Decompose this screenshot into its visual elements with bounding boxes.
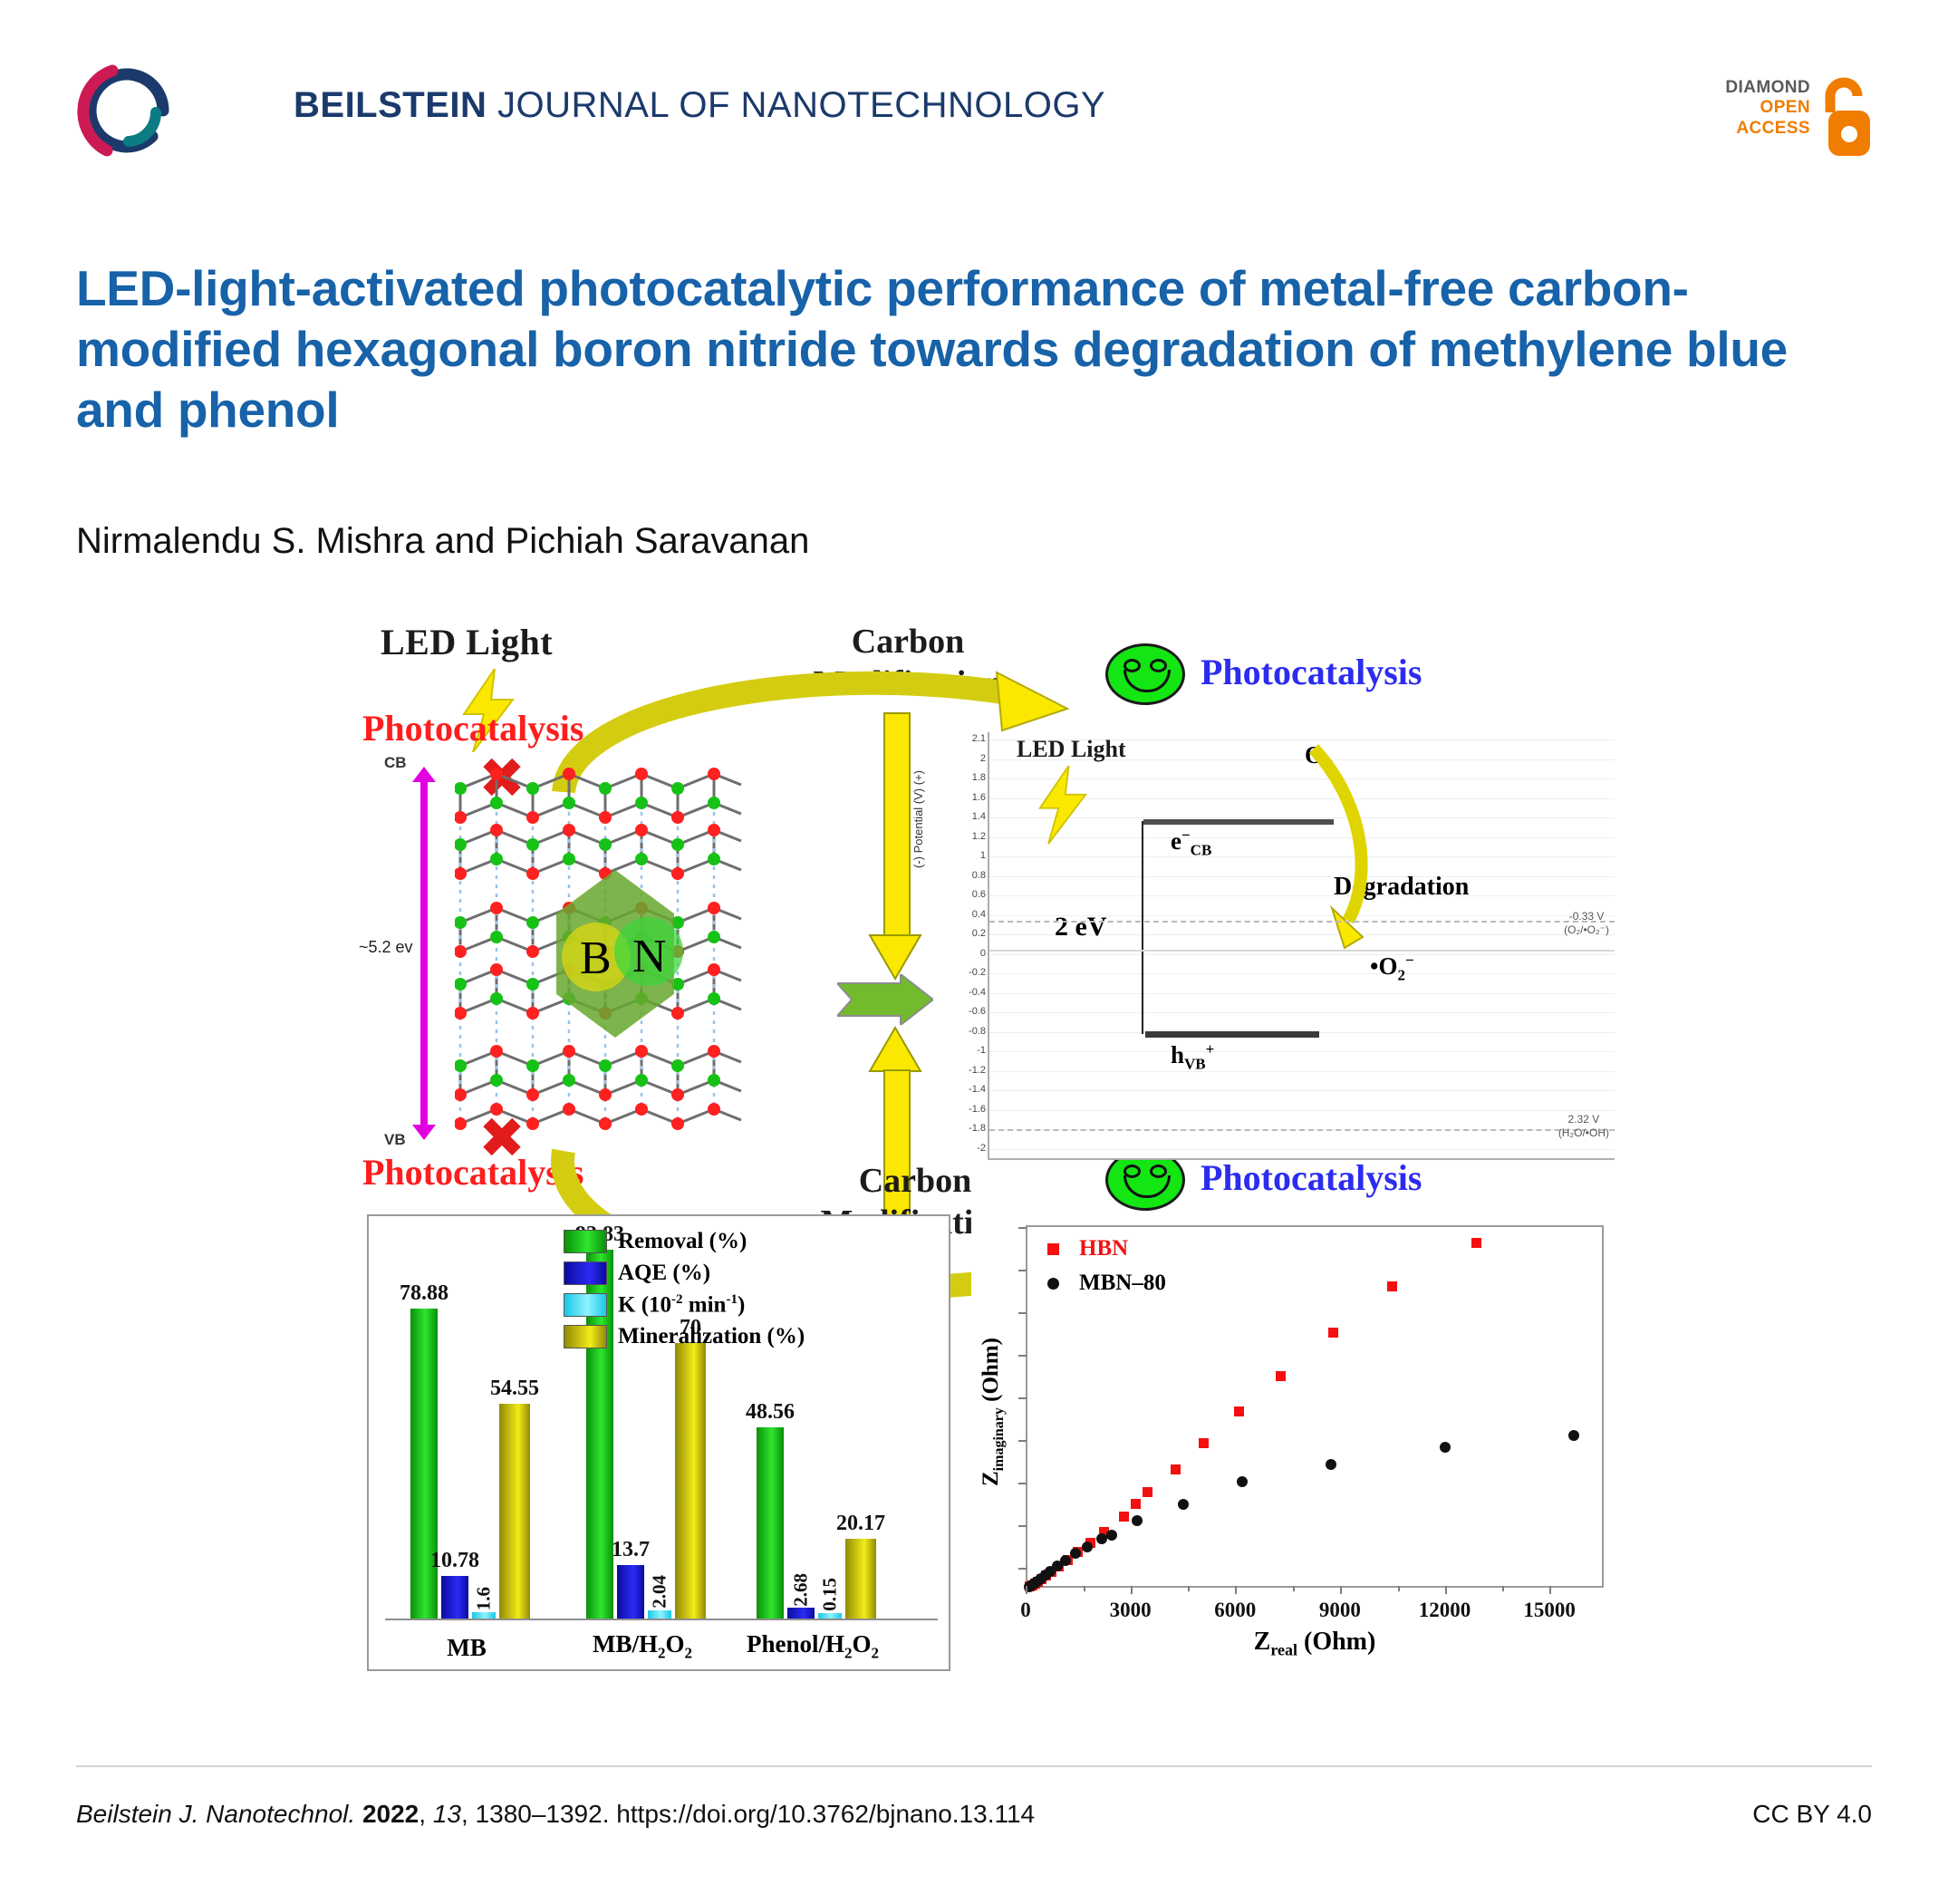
yellow-arrow-down-shaft	[883, 712, 911, 942]
nyquist-ytick-mark	[1018, 1397, 1027, 1399]
nyquist-yaxis-label: Zimaginary (Ohm)	[979, 1338, 1008, 1486]
bar-value-label: 54.55	[490, 1377, 539, 1401]
bandgap-bar	[1142, 821, 1143, 1034]
valence-band-label: VB	[384, 1131, 406, 1149]
nyquist-xtick-mark	[1131, 1586, 1133, 1594]
footer-volume: 13	[433, 1800, 461, 1828]
bar-MB-1: 10.78	[441, 1576, 468, 1619]
band-ytick: 0.8	[950, 870, 986, 881]
smiley-face-icon-top	[1105, 643, 1185, 705]
band-ytick: -1.6	[950, 1104, 986, 1115]
nyquist-point-MBN80	[1568, 1430, 1579, 1441]
legend-swatch	[564, 1325, 607, 1348]
nyquist-xtick-minor	[1084, 1586, 1085, 1591]
bar-PhenolH2O2-3: 20.17	[845, 1539, 876, 1619]
nyquist-point-HBN	[1387, 1281, 1397, 1291]
nyquist-point-MBN80	[1237, 1476, 1248, 1487]
band-gridline	[989, 1090, 1615, 1091]
bar-chart-legend: Removal (%)AQE (%)K (10-2 min-1)Minerali…	[564, 1229, 805, 1356]
nyquist-xtick-label: 15000	[1523, 1599, 1576, 1622]
band-ytick: -0.8	[950, 1026, 986, 1037]
nyquist-xtick-label: 3000	[1110, 1599, 1152, 1622]
bar-MBH2O2-1: 13.7	[617, 1565, 644, 1619]
legend-label: AQE (%)	[618, 1261, 710, 1286]
nyquist-point-HBN	[1234, 1406, 1244, 1416]
footer-year: 2022	[362, 1800, 419, 1828]
nyquist-point-HBN	[1119, 1512, 1129, 1522]
footer-license: CC BY 4.0	[1752, 1800, 1872, 1829]
nyquist-legend: HBNMBN–80	[1042, 1236, 1166, 1305]
nyquist-xtick-mark	[1445, 1586, 1447, 1594]
green-right-arrow-icon	[837, 974, 933, 1025]
conduction-band-label: CB	[384, 754, 407, 772]
nyquist-point-MBN80	[1070, 1548, 1081, 1559]
bar-value-label: 20.17	[836, 1512, 885, 1536]
band-ytick: 0.2	[950, 928, 986, 939]
band-ytick: -1	[950, 1045, 986, 1056]
redox-label-superoxide: -0.33 V (O₂/•O₂⁻)	[1564, 910, 1609, 937]
graphical-abstract-figure: LED Light CarbonModification Photocataly…	[362, 616, 1631, 1722]
led-light-label: LED Light	[381, 621, 553, 663]
nyquist-xaxis-label: Zreal (Ohm)	[1026, 1628, 1604, 1660]
nyquist-xtick-minor	[1293, 1586, 1295, 1591]
bar-value-label: 78.88	[400, 1281, 448, 1306]
band-ytick: 1	[950, 850, 986, 861]
journal-title: BEILSTEIN JOURNAL OF NANOTECHNOLOGY	[294, 85, 1105, 126]
band-ytick: 2.1	[950, 733, 986, 744]
nyquist-xtick-label: 0	[1020, 1599, 1031, 1622]
nyquist-point-HBN	[1199, 1438, 1209, 1448]
bar-value-label: 0.15	[819, 1578, 842, 1611]
page-title: LED-light-activated photocatalytic perfo…	[76, 258, 1825, 440]
nyquist-ytick-mark	[1018, 1227, 1027, 1229]
nyquist-xtick-minor	[1188, 1586, 1190, 1591]
nyquist-xtick-minor	[1398, 1586, 1400, 1591]
band-energy-diagram: (-) Potential (V) (+) 2.121.81.61.41.210…	[988, 732, 1615, 1160]
band-gridline	[989, 973, 1615, 974]
redox-1-value: -0.33 V	[1569, 910, 1605, 923]
hole-vb-label: hVB+	[1171, 1040, 1214, 1073]
bar-MB-2: 1.6	[472, 1612, 496, 1619]
valence-band-line	[1145, 1031, 1319, 1038]
nyquist-point-HBN	[1131, 1499, 1141, 1509]
legend-label: MBN–80	[1079, 1271, 1166, 1296]
hbn-lattice-panel: CB VB ~5.2 ev	[390, 761, 743, 1151]
band-ytick: -1.8	[950, 1123, 986, 1134]
bar-value-label: 48.56	[746, 1400, 795, 1425]
nyquist-xtick-label: 12000	[1419, 1599, 1471, 1622]
legend-swatch	[564, 1293, 607, 1317]
nyquist-point-MBN80	[1060, 1555, 1071, 1566]
nyquist-legend-item: MBN–80	[1042, 1271, 1166, 1296]
bar-legend-item: K (10-2 min-1)	[564, 1292, 805, 1318]
bar-value-label: 13.7	[612, 1538, 650, 1562]
legend-label: K (10-2 min-1)	[618, 1292, 745, 1318]
band-ytick: 0.4	[950, 909, 986, 920]
bar-PhenolH2O2-1: 2.68	[787, 1608, 815, 1619]
nyquist-point-HBN	[1143, 1487, 1152, 1497]
band-led-light-label: LED Light	[1017, 736, 1126, 763]
bar-MB-3: 54.55	[499, 1404, 530, 1619]
bar-value-label: 10.78	[430, 1549, 479, 1573]
nyquist-point-MBN80	[1106, 1530, 1117, 1541]
open-access-text: DIAMOND OPEN ACCESS	[1725, 78, 1810, 139]
band-gridline	[989, 1051, 1615, 1052]
footer-journal: Beilstein J. Nanotechnol.	[76, 1800, 355, 1828]
journal-title-light: JOURNAL OF NANOTECHNOLOGY	[487, 85, 1105, 125]
open-access-badge: DIAMOND OPEN ACCESS	[1682, 71, 1872, 166]
bar-legend-item: Removal (%)	[564, 1229, 805, 1254]
nyquist-xtick-label: 9000	[1319, 1599, 1361, 1622]
beilstein-spiral-logo-icon	[76, 60, 178, 161]
legend-label: Removal (%)	[618, 1229, 747, 1254]
band-yaxis-title: (-) Potential (V) (+)	[911, 770, 925, 868]
band-ytick: -0.6	[950, 1006, 986, 1017]
redox-2-couple: (H₂O/•OH)	[1558, 1126, 1609, 1139]
redox-1-couple: (O₂/•O₂⁻)	[1564, 923, 1609, 936]
oa-line-access: ACCESS	[1725, 119, 1810, 139]
masthead: BEILSTEIN JOURNAL OF NANOTECHNOLOGY DIAM…	[76, 60, 1872, 169]
legend-label: Mineralization (%)	[618, 1324, 805, 1349]
nyquist-xtick-label: 6000	[1214, 1599, 1256, 1622]
band-ytick: -0.2	[950, 967, 986, 978]
legend-swatch	[564, 1261, 607, 1285]
bar-legend-item: Mineralization (%)	[564, 1324, 805, 1349]
redox-line-superoxide	[989, 921, 1615, 923]
band-ytick: 1.2	[950, 831, 986, 842]
photocatalysis-blocked-label-top: Photocatalysis	[362, 707, 583, 749]
nyquist-impedance-plot: HBNMBN–80 03000600090001200015000 Zreal …	[971, 1214, 1613, 1667]
nyquist-ytick-mark	[1018, 1483, 1027, 1484]
band-ytick: 2	[950, 753, 986, 764]
boron-letter: B	[580, 932, 612, 985]
bar-value-label: 2.68	[790, 1573, 813, 1607]
nyquist-ytick-mark	[1018, 1568, 1027, 1570]
band-gridline	[989, 1110, 1615, 1111]
band-ytick: 1.8	[950, 772, 986, 783]
nyquist-xtick-mark	[1549, 1586, 1551, 1594]
article-authors: Nirmalendu S. Mishra and Pichiah Saravan…	[76, 521, 809, 562]
nyquist-point-HBN	[1171, 1464, 1181, 1474]
band-ytick: -1.4	[950, 1084, 986, 1095]
legend-marker	[1047, 1243, 1059, 1255]
bar-group-label: MB	[447, 1634, 487, 1662]
photocatalysis-ok-label-bottom: Photocatalysis	[1201, 1156, 1422, 1199]
nyquist-xtick-mark	[1340, 1586, 1342, 1594]
band-gridline	[989, 993, 1615, 994]
performance-bar-chart: 78.8810.781.654.5593.8313.72.047048.562.…	[367, 1214, 950, 1671]
nyquist-point-HBN	[1328, 1328, 1338, 1338]
nyquist-ytick-mark	[1018, 1440, 1027, 1442]
nyquist-ytick-mark	[1018, 1525, 1027, 1527]
oa-line-open: OPEN	[1725, 98, 1810, 118]
redox-2-value: 2.32 V	[1568, 1113, 1600, 1126]
electron-cb-label: e−CB	[1171, 826, 1211, 859]
nyquist-point-MBN80	[1082, 1542, 1093, 1552]
band-ytick: 0.6	[950, 889, 986, 900]
zero-potential-line	[989, 950, 1615, 952]
nyquist-ytick-mark	[1018, 1355, 1027, 1357]
bar-group-label: Phenol/H2O2	[747, 1630, 879, 1662]
nyquist-point-HBN	[1471, 1238, 1481, 1248]
nyquist-xtick-mark	[1026, 1586, 1027, 1594]
lightning-bolt-icon-band	[1037, 765, 1089, 849]
bar-PhenolH2O2-0: 48.56	[757, 1427, 784, 1619]
nyquist-legend-item: HBN	[1042, 1236, 1166, 1261]
band-ytick: 1.4	[950, 811, 986, 822]
nitrogen-letter: N	[632, 930, 667, 983]
footer-citation: Beilstein J. Nanotechnol. 2022, 13, 1380…	[76, 1800, 1035, 1829]
bandgap-double-arrow-icon	[420, 781, 428, 1126]
bar-group-label: MB/H2O2	[593, 1630, 692, 1662]
smiley-mouth	[1123, 1175, 1171, 1198]
hbn-lattice-grid: B N	[455, 761, 743, 1151]
legend-marker	[1047, 1278, 1059, 1290]
oa-line-diamond: DIAMOND	[1725, 78, 1810, 98]
journal-title-bold: BEILSTEIN	[294, 85, 487, 125]
nyquist-point-MBN80	[1178, 1499, 1189, 1510]
band-ytick: -1.2	[950, 1065, 986, 1076]
nyquist-point-MBN80	[1132, 1515, 1143, 1526]
footer-divider	[76, 1765, 1872, 1767]
nyquist-point-MBN80	[1326, 1459, 1336, 1470]
band-gridline	[989, 1071, 1615, 1072]
bar-value-label: 2.04	[649, 1575, 671, 1609]
degradation-curved-arrow-icon	[1288, 743, 1424, 970]
nyquist-point-HBN	[1276, 1371, 1286, 1381]
band-ytick: 1.6	[950, 792, 986, 803]
bar-value-label: 1.6	[473, 1587, 496, 1610]
bar-MBH2O2-3: 70	[675, 1343, 706, 1619]
footer-doi-link[interactable]: https://doi.org/10.3762/bjnano.13.114	[616, 1800, 1035, 1828]
smiley-mouth	[1123, 670, 1171, 692]
photocatalysis-ok-label-top: Photocatalysis	[1201, 651, 1422, 693]
footer-pages: 1380–1392.	[476, 1800, 610, 1828]
open-lock-icon	[1816, 74, 1872, 158]
legend-swatch	[564, 1230, 607, 1253]
redox-line-hydroxyl	[989, 1129, 1615, 1131]
bandgap-value-label: ~5.2 ev	[359, 938, 413, 957]
bar-chart-baseline	[385, 1619, 938, 1620]
redox-label-hydroxyl: 2.32 V (H₂O/•OH)	[1558, 1113, 1609, 1140]
yellow-arrow-up-head-icon	[866, 1026, 924, 1075]
nyquist-point-MBN80	[1440, 1442, 1451, 1453]
nyquist-xtick-mark	[1235, 1586, 1237, 1594]
nyquist-xtick-minor	[1502, 1586, 1504, 1591]
bar-MBH2O2-2: 2.04	[648, 1610, 671, 1619]
band-ytick: 0	[950, 948, 986, 959]
nyquist-ytick-mark	[1018, 1270, 1027, 1271]
band-ytick: -0.4	[950, 987, 986, 998]
bar-legend-item: AQE (%)	[564, 1261, 805, 1286]
nyquist-point-MBN80	[1096, 1533, 1107, 1544]
nyquist-ytick-mark	[1018, 1312, 1027, 1314]
band-gap-energy-label: 2 eV	[1055, 912, 1106, 942]
band-gridline	[989, 1012, 1615, 1013]
legend-label: HBN	[1079, 1236, 1128, 1261]
